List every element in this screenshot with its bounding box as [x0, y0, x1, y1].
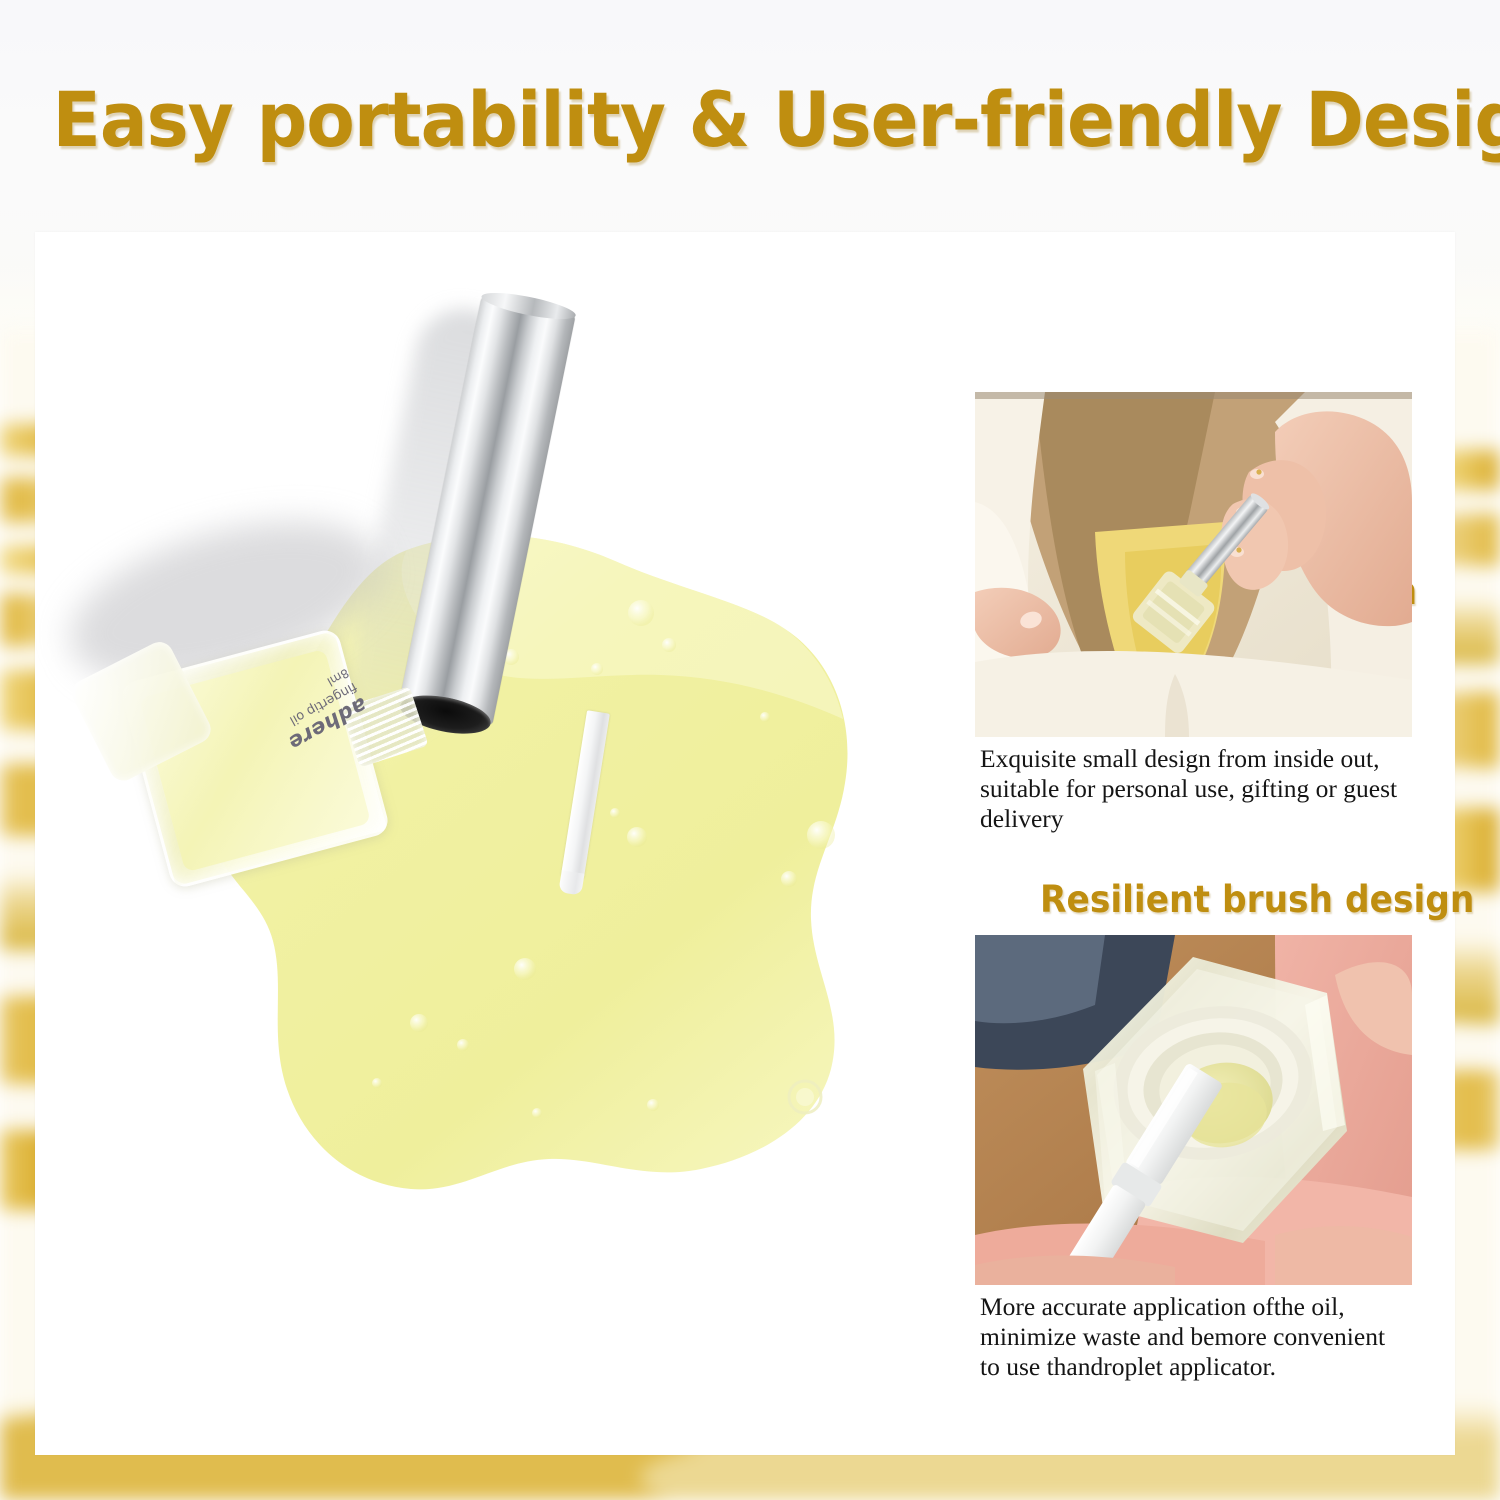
caption-resilient-brush: More accurate application ofthe oil, min…: [980, 1292, 1400, 1382]
photo-resilient-brush-art: [975, 935, 1412, 1285]
photo-small-bottle-art: [975, 392, 1412, 737]
caption-small-bottle: Exquisite small design from inside out, …: [980, 744, 1400, 834]
page-title: Easy portability & User-friendly Design: [53, 70, 1448, 170]
photo-small-bottle-design: [975, 392, 1412, 737]
section-heading-resilient-brush: Resilient brush design: [1040, 878, 1474, 921]
photo-resilient-brush-design: [975, 935, 1412, 1285]
content-card: adhere fingertip oil 8ml Small bottle de…: [35, 232, 1455, 1455]
hero-product-image: adhere fingertip oil 8ml: [35, 232, 965, 1455]
